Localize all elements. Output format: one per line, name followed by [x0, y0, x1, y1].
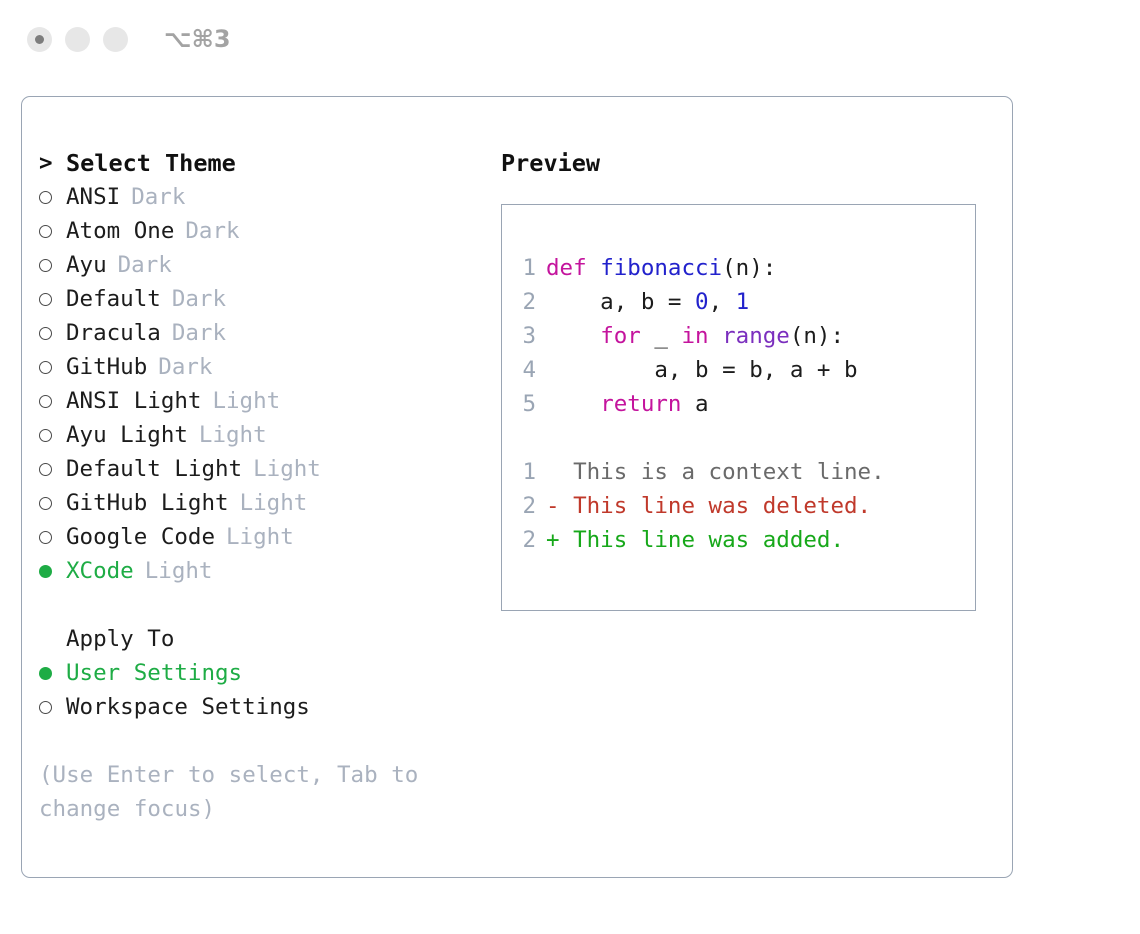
theme-option-label: GitHub	[66, 350, 147, 384]
theme-option-marker	[39, 429, 66, 442]
code-token-num: 0	[695, 289, 709, 315]
radio-unselected-icon	[39, 259, 52, 272]
keyboard-shortcut-label: ⌥⌘3	[164, 27, 231, 51]
radio-unselected-icon	[39, 429, 52, 442]
theme-option-marker	[39, 497, 66, 510]
theme-option-label: Ayu Light	[66, 418, 188, 452]
code-token-plain: a, b =	[546, 289, 695, 315]
diff-sign: -	[546, 493, 560, 519]
page-title: Select Theme	[66, 146, 236, 180]
theme-option-label: XCode	[66, 554, 134, 588]
window-titlebar: ⌥⌘3	[0, 0, 1140, 78]
radio-unselected-icon	[39, 293, 52, 306]
theme-variant-badge: Light	[240, 486, 308, 520]
apply-to-option-workspace-settings[interactable]: Workspace Settings	[39, 690, 479, 724]
code-token-kw: in	[681, 323, 708, 349]
radio-unselected-icon	[39, 191, 52, 204]
theme-variant-badge: Dark	[131, 180, 185, 214]
apply-to-option-user-settings[interactable]: User Settings	[39, 656, 479, 690]
diff-text: This is a context line.	[560, 459, 885, 485]
theme-variant-badge: Dark	[172, 282, 226, 316]
theme-option-github[interactable]: GitHubDark	[39, 350, 479, 384]
code-token-plain: (n):	[722, 255, 776, 281]
radio-unselected-icon	[39, 327, 52, 340]
window-control-two[interactable]	[65, 27, 90, 52]
theme-option-marker	[39, 259, 66, 272]
diff-line-add: 2+ This line was added.	[502, 523, 975, 557]
window-controls	[27, 27, 128, 52]
theme-option-label: Google Code	[66, 520, 215, 554]
code-token-plain: a	[681, 391, 708, 417]
theme-variant-badge: Light	[226, 520, 294, 554]
theme-option-xcode[interactable]: XCodeLight	[39, 554, 479, 588]
diff-sample: 1 This is a context line.2- This line wa…	[502, 455, 975, 557]
code-token-kw: for	[600, 323, 641, 349]
code-token-plain: a, b = b, a + b	[546, 357, 858, 383]
diff-text: This line was added.	[560, 527, 844, 553]
theme-option-marker	[39, 565, 66, 578]
code-token-plain: ,	[709, 289, 736, 315]
radio-unselected-icon	[39, 701, 52, 714]
theme-option-atom-one[interactable]: Atom OneDark	[39, 214, 479, 248]
code-line-number: 5	[502, 387, 546, 421]
code-token-kw: return	[600, 391, 681, 417]
theme-variant-badge: Light	[253, 452, 321, 486]
theme-variant-badge: Light	[199, 418, 267, 452]
preview-code-box: 1def fibonacci(n):2 a, b = 0, 13 for _ i…	[501, 204, 976, 611]
radio-unselected-icon	[39, 531, 52, 544]
diff-line-number: 2	[502, 523, 546, 557]
diff-line-ctx: 1 This is a context line.	[502, 455, 975, 489]
theme-option-label: ANSI Light	[66, 384, 201, 418]
active-dot-icon	[35, 35, 44, 44]
code-line-text: def fibonacci(n):	[546, 251, 776, 285]
theme-option-label: ANSI	[66, 180, 120, 214]
keyboard-hint-line-1: (Use Enter to select, Tab to	[39, 758, 459, 792]
code-token-kw: def	[546, 255, 587, 281]
theme-option-ayu-light[interactable]: Ayu LightLight	[39, 418, 479, 452]
theme-option-label: Default Light	[66, 452, 242, 486]
theme-option-marker	[39, 327, 66, 340]
code-line-number: 3	[502, 319, 546, 353]
code-line-number: 1	[502, 251, 546, 285]
diff-line-text: + This line was added.	[546, 523, 844, 557]
apply-to-option-marker	[39, 667, 66, 680]
code-line: 4 a, b = b, a + b	[502, 353, 975, 387]
theme-option-marker	[39, 361, 66, 374]
theme-option-marker	[39, 463, 66, 476]
radio-unselected-icon	[39, 395, 52, 408]
keyboard-hint: (Use Enter to select, Tab to change focu…	[39, 758, 459, 826]
code-token-call: range	[722, 323, 790, 349]
radio-unselected-icon	[39, 497, 52, 510]
theme-list-column: > Select Theme ANSIDarkAtom OneDarkAyuDa…	[39, 146, 479, 826]
theme-option-marker	[39, 531, 66, 544]
theme-option-marker	[39, 191, 66, 204]
window-control-three[interactable]	[103, 27, 128, 52]
theme-option-label: Ayu	[66, 248, 107, 282]
code-token-plain	[546, 391, 600, 417]
code-token-plain	[546, 323, 600, 349]
theme-option-label: GitHub Light	[66, 486, 229, 520]
theme-variant-badge: Dark	[172, 316, 226, 350]
apply-to-heading-row: Apply To	[39, 622, 479, 656]
theme-option-label: Dracula	[66, 316, 161, 350]
code-line-text: for _ in range(n):	[546, 319, 844, 353]
diff-text: This line was deleted.	[560, 493, 872, 519]
theme-option-marker	[39, 395, 66, 408]
diff-line-text: This is a context line.	[546, 455, 885, 489]
radio-unselected-icon	[39, 225, 52, 238]
theme-variant-badge: Light	[145, 554, 213, 588]
apply-to-heading: Apply To	[66, 622, 174, 656]
code-token-fn: fibonacci	[600, 255, 722, 281]
diff-line-del: 2- This line was deleted.	[502, 489, 975, 523]
code-line: 2 a, b = 0, 1	[502, 285, 975, 319]
select-theme-heading: > Select Theme	[39, 146, 479, 180]
theme-option-label: Atom One	[66, 214, 174, 248]
code-token-plain: (n):	[790, 323, 844, 349]
code-token-num: 1	[736, 289, 750, 315]
code-line: 3 for _ in range(n):	[502, 319, 975, 353]
code-line-number: 2	[502, 285, 546, 319]
theme-option-ansi-light[interactable]: ANSI LightLight	[39, 384, 479, 418]
preview-title: Preview	[501, 146, 991, 180]
diff-line-number: 1	[502, 455, 546, 489]
radio-unselected-icon	[39, 361, 52, 374]
code-token-plain	[709, 323, 723, 349]
code-diff-gap	[502, 421, 975, 455]
theme-option-dracula[interactable]: DraculaDark	[39, 316, 479, 350]
hint-spacer	[39, 724, 479, 758]
theme-variant-badge: Light	[212, 384, 280, 418]
window-control-active[interactable]	[27, 27, 52, 52]
theme-picker-panel: > Select Theme ANSIDarkAtom OneDarkAyuDa…	[21, 96, 1013, 878]
diff-line-number: 2	[502, 489, 546, 523]
theme-option-ayu[interactable]: AyuDark	[39, 248, 479, 282]
diff-sign	[546, 459, 560, 485]
apply-to-options-list: User SettingsWorkspace Settings	[39, 656, 479, 724]
code-line: 1def fibonacci(n):	[502, 251, 975, 285]
apply-to-option-label: Workspace Settings	[66, 690, 310, 724]
radio-unselected-icon	[39, 463, 52, 476]
theme-option-ansi[interactable]: ANSIDark	[39, 180, 479, 214]
theme-variant-badge: Dark	[118, 248, 172, 282]
theme-option-default[interactable]: DefaultDark	[39, 282, 479, 316]
diff-sign: +	[546, 527, 560, 553]
apply-to-option-marker	[39, 701, 66, 714]
theme-option-marker	[39, 293, 66, 306]
caret-icon: >	[39, 146, 66, 180]
code-line-text: a, b = 0, 1	[546, 285, 749, 319]
theme-options-list: ANSIDarkAtom OneDarkAyuDarkDefaultDarkDr…	[39, 180, 479, 588]
theme-variant-badge: Dark	[185, 214, 239, 248]
code-line: 5 return a	[502, 387, 975, 421]
theme-option-google-code[interactable]: Google CodeLight	[39, 520, 479, 554]
code-line-text: return a	[546, 387, 709, 421]
radio-selected-icon	[39, 565, 52, 578]
code-line-number: 4	[502, 353, 546, 387]
diff-line-text: - This line was deleted.	[546, 489, 871, 523]
theme-variant-badge: Dark	[158, 350, 212, 384]
section-spacer	[39, 588, 479, 622]
code-token-plain	[587, 255, 601, 281]
apply-to-option-label: User Settings	[66, 656, 242, 690]
radio-selected-icon	[39, 667, 52, 680]
theme-option-github-light[interactable]: GitHub LightLight	[39, 486, 479, 520]
code-token-plain: _	[641, 323, 682, 349]
keyboard-hint-line-2: change focus)	[39, 792, 459, 826]
theme-option-label: Default	[66, 282, 161, 316]
preview-column: Preview 1def fibonacci(n):2 a, b = 0, 13…	[501, 146, 991, 611]
theme-option-default-light[interactable]: Default LightLight	[39, 452, 479, 486]
theme-option-marker	[39, 225, 66, 238]
code-line-text: a, b = b, a + b	[546, 353, 858, 387]
code-sample: 1def fibonacci(n):2 a, b = 0, 13 for _ i…	[502, 251, 975, 421]
